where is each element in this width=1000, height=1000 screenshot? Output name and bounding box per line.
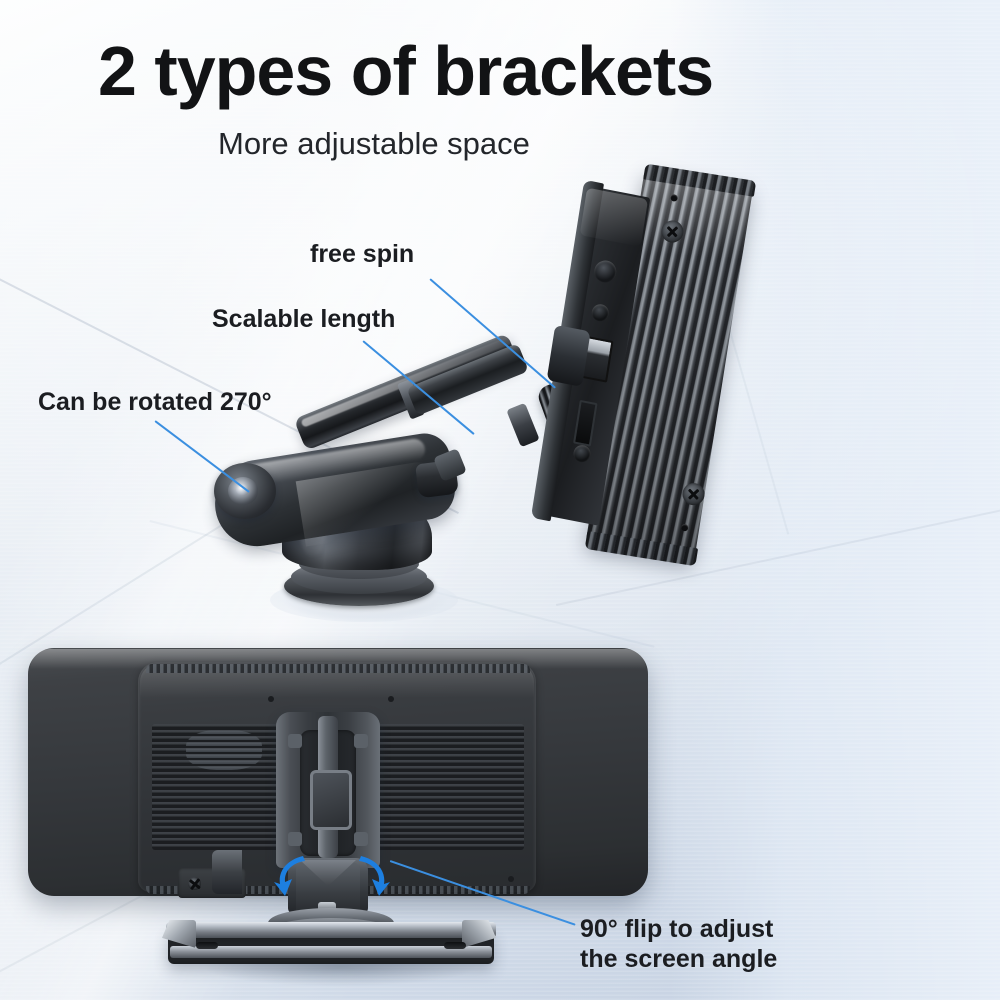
dash-mount-plate-rail-bottom <box>170 946 492 958</box>
callout-label-flip-90: 90° flip to adjust the screen angle <box>580 915 840 974</box>
mounting-hole <box>268 696 274 702</box>
cooling-vent-right <box>372 724 524 850</box>
side-button-nub <box>212 850 242 894</box>
cradle-rib <box>288 734 302 748</box>
cradle-rib <box>354 832 368 846</box>
rotation-arrow-left-icon <box>272 852 312 898</box>
rotation-arrow-right-icon <box>352 852 392 898</box>
plate-slot-mark-right <box>444 942 466 949</box>
product-lower-dash-plate-assembly <box>0 630 1000 1000</box>
callout-label-scalable-length: Scalable length <box>212 305 395 335</box>
mounting-hole <box>508 876 514 882</box>
callout-label-free-spin: free spin <box>310 240 414 270</box>
display-top-vent-slats <box>146 664 530 673</box>
telescopic-arm-clip <box>506 403 540 448</box>
cradle-rib <box>354 734 368 748</box>
page-subtitle: More adjustable space <box>218 128 530 159</box>
display-unit-side-view <box>526 152 816 583</box>
callout-flip-line-1: 90° flip to adjust <box>580 915 840 945</box>
plate-slot-mark-left <box>196 942 218 949</box>
fan-grille-pattern <box>186 730 262 770</box>
cradle-rib <box>288 832 302 846</box>
phillips-screw-icon <box>188 877 201 890</box>
cradle-window <box>310 770 352 830</box>
mounting-hole <box>388 696 394 702</box>
callout-label-rotated-270: Can be rotated 270° <box>38 388 272 418</box>
callout-flip-line-2: the screen angle <box>580 945 840 975</box>
dash-mount-plate-rail-top <box>166 922 496 938</box>
product-marketing-image: 2 types of brackets More adjustable spac… <box>0 0 1000 1000</box>
page-title: 2 types of brackets <box>98 36 713 106</box>
